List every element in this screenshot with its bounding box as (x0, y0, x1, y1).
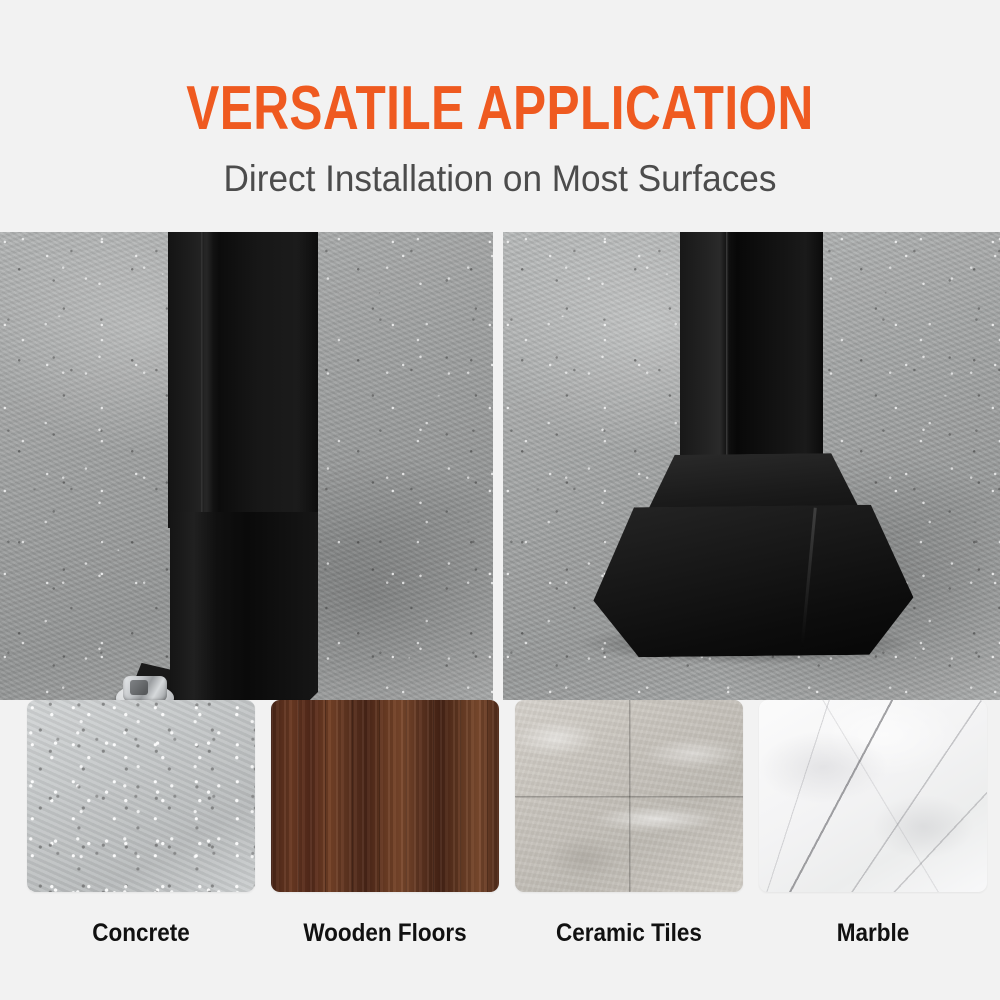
ceramic-swatch-image (515, 700, 743, 892)
surface-item-ceramic: Ceramic Tiles (515, 700, 743, 947)
base-cover-skirt (592, 504, 914, 657)
product-photo-row (0, 232, 1000, 700)
page-title: VERSATILE APPLICATION (100, 78, 900, 140)
black-post-lower (170, 512, 318, 700)
concrete-swatch-image (27, 700, 255, 892)
chrome-bolt-icon (116, 674, 174, 700)
surface-item-marble: Marble (759, 700, 987, 947)
surface-item-concrete: Concrete (27, 700, 255, 947)
black-base-cover (592, 452, 914, 665)
surface-label-wood: Wooden Floors (282, 919, 487, 947)
surface-label-concrete: Concrete (38, 919, 243, 947)
banner-header: VERSATILE APPLICATION Direct Installatio… (0, 0, 1000, 232)
marble-swatch-image (759, 700, 987, 892)
page-subtitle: Direct Installation on Most Surfaces (25, 157, 975, 201)
surface-label-marble: Marble (770, 919, 975, 947)
surface-label-ceramic: Ceramic Tiles (526, 919, 731, 947)
bolt-facet (130, 680, 148, 695)
surface-swatch-row: Concrete Wooden Floors Ceramic Tiles Mar… (0, 700, 1000, 1000)
product-feature-banner: VERSATILE APPLICATION Direct Installatio… (0, 0, 1000, 1000)
black-post-upper (168, 232, 318, 528)
photo-post-base-bolted (0, 232, 493, 700)
photo-post-base-covered (503, 232, 1000, 700)
wood-swatch-image (271, 700, 499, 892)
surface-item-wood: Wooden Floors (271, 700, 499, 947)
